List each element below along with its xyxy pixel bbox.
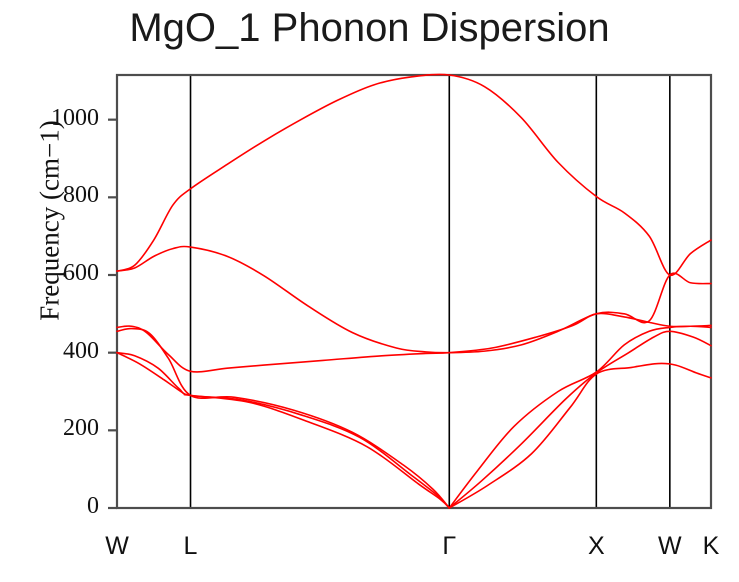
band-curve-3-seg1 xyxy=(449,326,711,508)
plot-canvas xyxy=(0,0,739,582)
band-curve-1 xyxy=(117,247,711,353)
band-curve-2 xyxy=(117,313,711,371)
grid-lines xyxy=(191,75,670,508)
axis-ticks xyxy=(108,120,117,508)
band-curve-4-seg0 xyxy=(117,353,449,508)
plot-frame xyxy=(117,75,711,508)
band-curve-0 xyxy=(117,74,711,275)
phonon-dispersion-figure: MgO_1 Phonon Dispersion Frequency (cm−1)… xyxy=(0,0,739,582)
band-curve-4-seg1 xyxy=(449,331,711,508)
axes-frame xyxy=(117,75,711,508)
band-curves xyxy=(117,74,711,508)
